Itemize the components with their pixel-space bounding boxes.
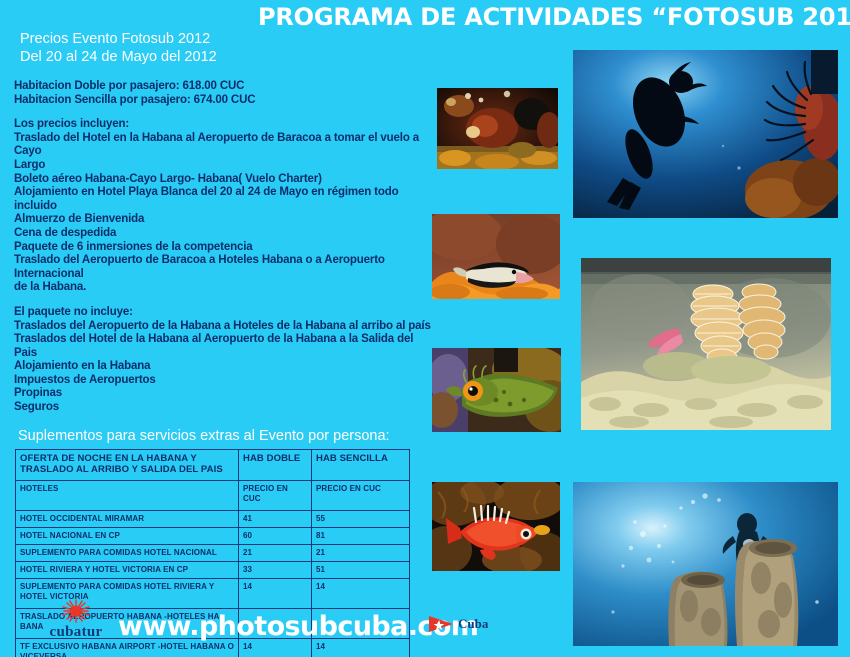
includes-heading: Los precios incluyen: [14, 118, 434, 132]
excludes-item: Traslados del Hotel de la Habana al Aero… [14, 333, 434, 360]
diver-silhouette-image [573, 50, 838, 218]
table-header-hab-doble: HAB DOBLE [239, 449, 312, 480]
row-doble: 60 [239, 527, 312, 544]
cuba-wordmark: Cuba [458, 616, 488, 632]
photo-coral-reef-closeup [437, 88, 558, 169]
excludes-item: Propinas [14, 387, 434, 401]
row-name: SUPLEMENTO PARA COMIDAS HOTEL NACIONAL [16, 544, 239, 561]
cubatur-logo[interactable]: cubatur [34, 599, 118, 651]
table-subheader-precio-doble: PRECIO EN CUC [239, 480, 312, 510]
green-blenny-image [432, 348, 561, 432]
body-text-block: Habitacion Doble por pasajero: 618.00 CU… [14, 80, 434, 415]
table-header-hab-sencilla: HAB SENCILLA [312, 449, 410, 480]
includes-item: Traslado del Aeropuerto de Baracoa a Hot… [14, 254, 434, 281]
row-name: HOTEL OCCIDENTAL MIRAMAR [16, 510, 239, 527]
sun-burst-icon [59, 599, 93, 623]
sun-burst-icon-svg [59, 599, 93, 623]
cuba-brand-logo[interactable]: Cuba [428, 614, 488, 634]
table-subheader-hoteles: HOTELES [16, 480, 239, 510]
flyer-page: PROGRAMA DE ACTIVIDADES “FOTOSUB 2012” P… [0, 0, 850, 657]
includes-item: Traslado del Hotel en la Habana al Aerop… [14, 132, 434, 159]
table-row: HOTEL OCCIDENTAL MIRAMAR 41 55 [16, 510, 410, 527]
page-title: PROGRAMA DE ACTIVIDADES “FOTOSUB 2012” [258, 2, 844, 32]
includes-item: Boleto aéreo Habana-Cayo Largo- Habana( … [14, 173, 434, 187]
left-content-column: Precios Evento Fotosub 2012 Del 20 al 24… [14, 30, 434, 657]
table-row: HOTEL RIVIERA Y HOTEL VICTORIA EN CP 33 … [16, 561, 410, 578]
event-heading: Precios Evento Fotosub 2012 Del 20 al 24… [14, 30, 434, 66]
rate-single: Habitacion Sencilla por pasajero: 674.00… [14, 94, 434, 108]
includes-item: Alojamiento en Hotel Playa Blanca del 20… [14, 186, 434, 213]
table-subheader-row: HOTELES PRECIO EN CUC PRECIO EN CUC [16, 480, 410, 510]
photo-green-blenny-fish [432, 348, 561, 432]
footer: cubatur www.photosubcuba.com Cuba [0, 596, 850, 657]
event-heading-line1: Precios Evento Fotosub 2012 [20, 30, 434, 48]
photo-christmas-tree-worm [581, 258, 831, 430]
row-doble: 41 [239, 510, 312, 527]
includes-item: de la Habana. [14, 281, 434, 295]
cubatur-wordmark: cubatur [34, 624, 118, 640]
excludes-item: Alojamiento en la Habana [14, 360, 434, 374]
row-name: HOTEL NACIONAL EN CP [16, 527, 239, 544]
christmas-tree-worm-image [581, 258, 831, 430]
table-row: SUPLEMENTO PARA COMIDAS HOTEL NACIONAL 2… [16, 544, 410, 561]
includes-item: Largo [14, 159, 434, 173]
table-row: HOTEL NACIONAL EN CP 60 81 [16, 527, 410, 544]
row-sencilla: 81 [312, 527, 410, 544]
red-squirrelfish-image [432, 482, 560, 571]
excludes-item: Seguros [14, 401, 434, 415]
spacer [14, 295, 434, 306]
photo-diver-silhouette-blue-water [573, 50, 838, 218]
row-sencilla: 55 [312, 510, 410, 527]
excludes-item: Traslados del Aeropuerto de la Habana a … [14, 320, 434, 334]
photo-cleaner-goby-on-orange-sponge [432, 214, 560, 299]
excludes-heading: El paquete no incluye: [14, 306, 434, 320]
event-heading-line2: Del 20 al 24 de Mayo del 2012 [20, 48, 434, 66]
includes-item: Paquete de 6 inmersiones de la competenc… [14, 241, 434, 255]
photo-red-squirrelfish [432, 482, 560, 571]
row-doble: 33 [239, 561, 312, 578]
row-sencilla: 51 [312, 561, 410, 578]
table-subheader-precio-sencilla: PRECIO EN CUC [312, 480, 410, 510]
row-name: HOTEL RIVIERA Y HOTEL VICTORIA EN CP [16, 561, 239, 578]
row-doble: 21 [239, 544, 312, 561]
table-header-offer: OFERTA DE NOCHE EN LA HABANA Y TRASLADO … [16, 449, 239, 480]
excludes-item: Impuestos de Aeropuertos [14, 374, 434, 388]
spacer [14, 107, 434, 118]
rate-double: Habitacion Doble por pasajero: 618.00 CU… [14, 80, 434, 94]
includes-item: Cena de despedida [14, 227, 434, 241]
cuba-flag-triangle-icon [428, 614, 454, 634]
website-url[interactable]: www.photosubcuba.com [118, 611, 478, 642]
coral-reef-closeup-image [437, 88, 558, 169]
cleaner-goby-image [432, 214, 560, 299]
table-header-row: OFERTA DE NOCHE EN LA HABANA Y TRASLADO … [16, 449, 410, 480]
supplements-title: Suplementos para servicios extras al Eve… [14, 428, 434, 444]
includes-item: Almuerzo de Bienvenida [14, 213, 434, 227]
row-sencilla: 21 [312, 544, 410, 561]
